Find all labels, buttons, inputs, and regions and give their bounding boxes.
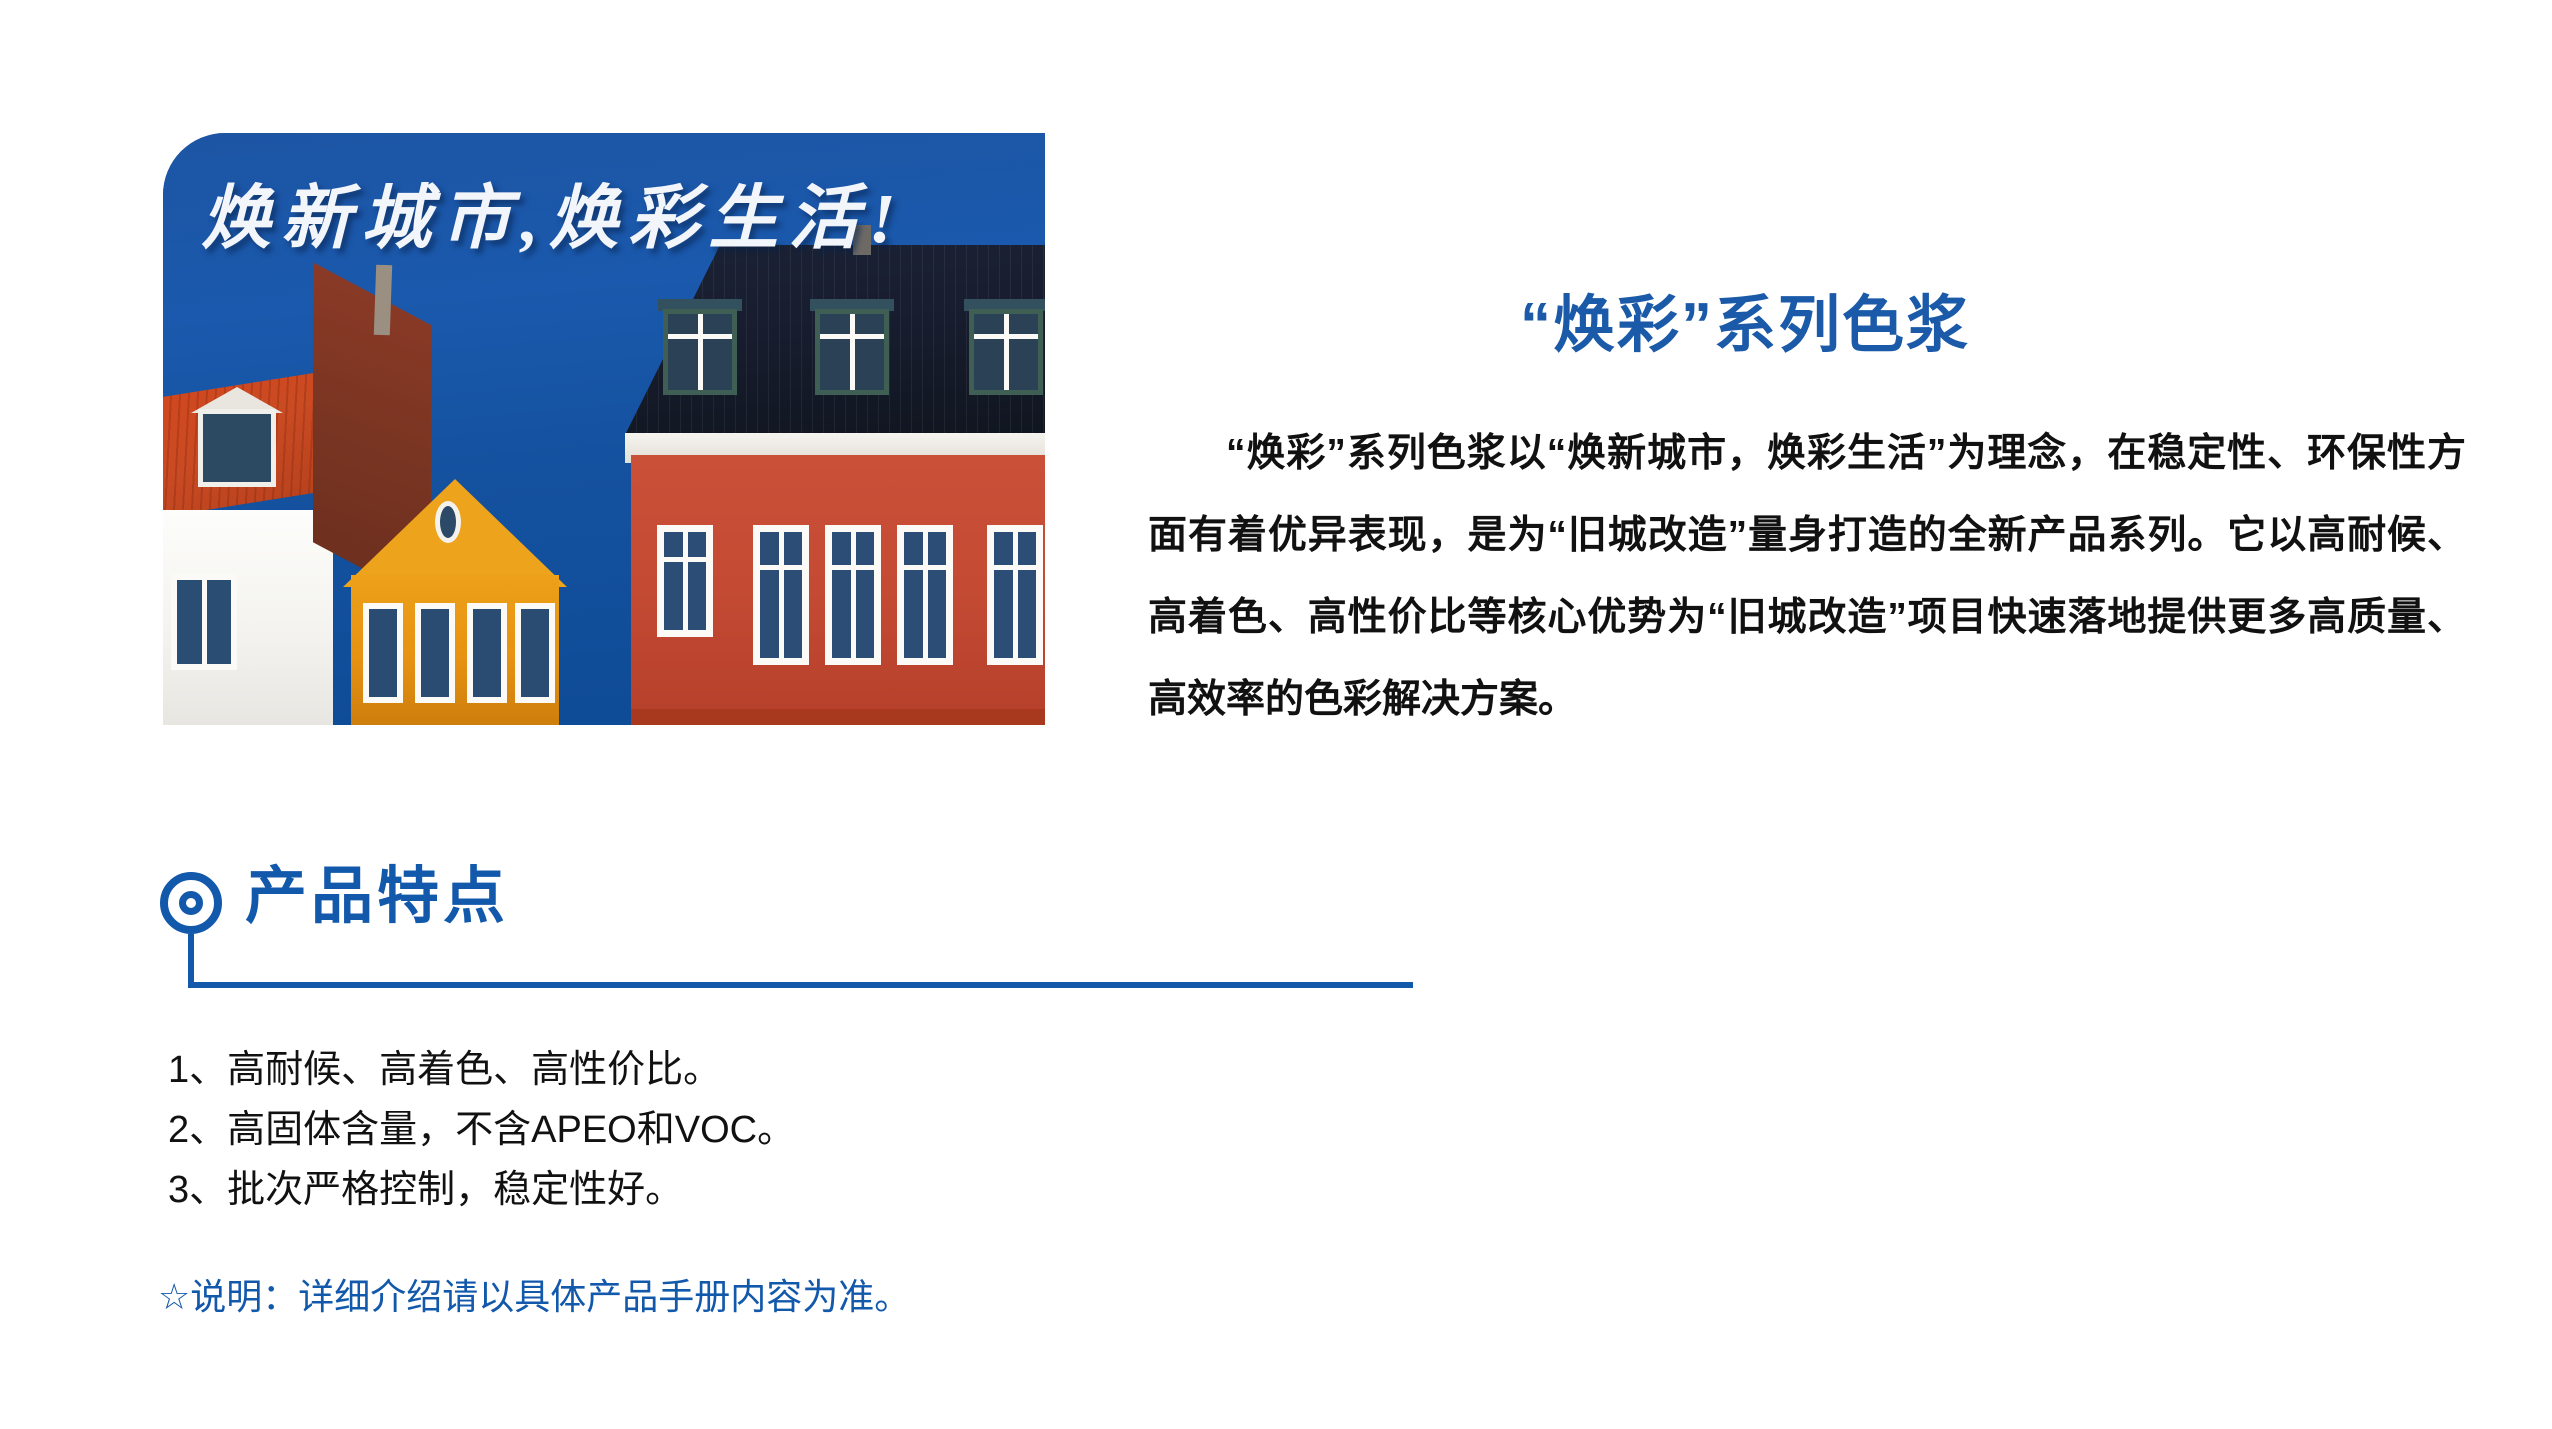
red-building-base	[631, 709, 1045, 725]
slide-root: 焕新城市,焕彩生活! “焕彩”系列色浆 “焕彩”系列色浆以“焕新城市，焕彩生活”…	[0, 0, 2552, 1429]
window-mullion	[1013, 532, 1018, 658]
bullseye-icon	[160, 872, 222, 934]
window-mullion	[850, 314, 855, 390]
chimney	[374, 265, 392, 336]
window-transom	[832, 565, 874, 570]
dormer-window	[663, 309, 737, 395]
window-transom	[760, 565, 802, 570]
window-mullion	[202, 580, 207, 664]
window-transom	[664, 557, 706, 562]
red-building-window	[825, 525, 881, 665]
window-transom	[994, 565, 1036, 570]
red-building-window	[897, 525, 953, 665]
header-divider-rule	[188, 982, 1413, 988]
white-house-window	[171, 574, 237, 670]
list-item: 3、批次严格控制，稳定性好。	[168, 1160, 1268, 1220]
white-house-facade	[163, 510, 333, 725]
red-building-window	[657, 525, 713, 637]
window-transom	[820, 334, 884, 339]
section-header: 产品特点	[160, 872, 1420, 1002]
footnote-text: ☆说明：详细介绍请以具体产品手册内容为准。	[158, 1275, 910, 1318]
orange-house-window	[415, 603, 455, 703]
product-hero-photo: 焕新城市,焕彩生活!	[163, 133, 1045, 725]
window-mullion	[779, 532, 784, 658]
window-transom	[974, 334, 1038, 339]
header-elbow-connector	[188, 934, 194, 988]
list-item: 1、高耐候、高着色、高性价比。	[168, 1040, 1268, 1100]
dormer-window	[969, 309, 1043, 395]
oval-attic-window	[435, 501, 461, 543]
dormer-window	[815, 309, 889, 395]
section-title: 产品特点	[245, 863, 509, 931]
orange-house-window	[467, 603, 507, 703]
list-item: 2、高固体含量，不含APEO和VOC。	[168, 1100, 1268, 1160]
window-mullion	[698, 314, 703, 390]
window-transom	[904, 565, 946, 570]
white-dormer-window	[198, 409, 276, 487]
feature-list: 1、高耐候、高着色、高性价比。 2、高固体含量，不含APEO和VOC。 3、批次…	[168, 1040, 1268, 1220]
red-building-window	[987, 525, 1043, 665]
window-transom	[668, 334, 732, 339]
hero-banner-slogan: 焕新城市,焕彩生活!	[201, 185, 1011, 255]
window-mullion	[923, 532, 928, 658]
page-title: “焕彩”系列色浆	[1520, 292, 1970, 360]
red-building-window	[753, 525, 809, 665]
window-mullion	[851, 532, 856, 658]
window-mullion	[1004, 314, 1009, 390]
orange-house-window	[363, 603, 403, 703]
orange-house-window	[515, 603, 555, 703]
intro-paragraph: “焕彩”系列色浆以“焕新城市，焕彩生活”为理念，在稳定性、环保性方面有着优异表现…	[1148, 413, 2466, 741]
window-mullion	[683, 532, 688, 630]
